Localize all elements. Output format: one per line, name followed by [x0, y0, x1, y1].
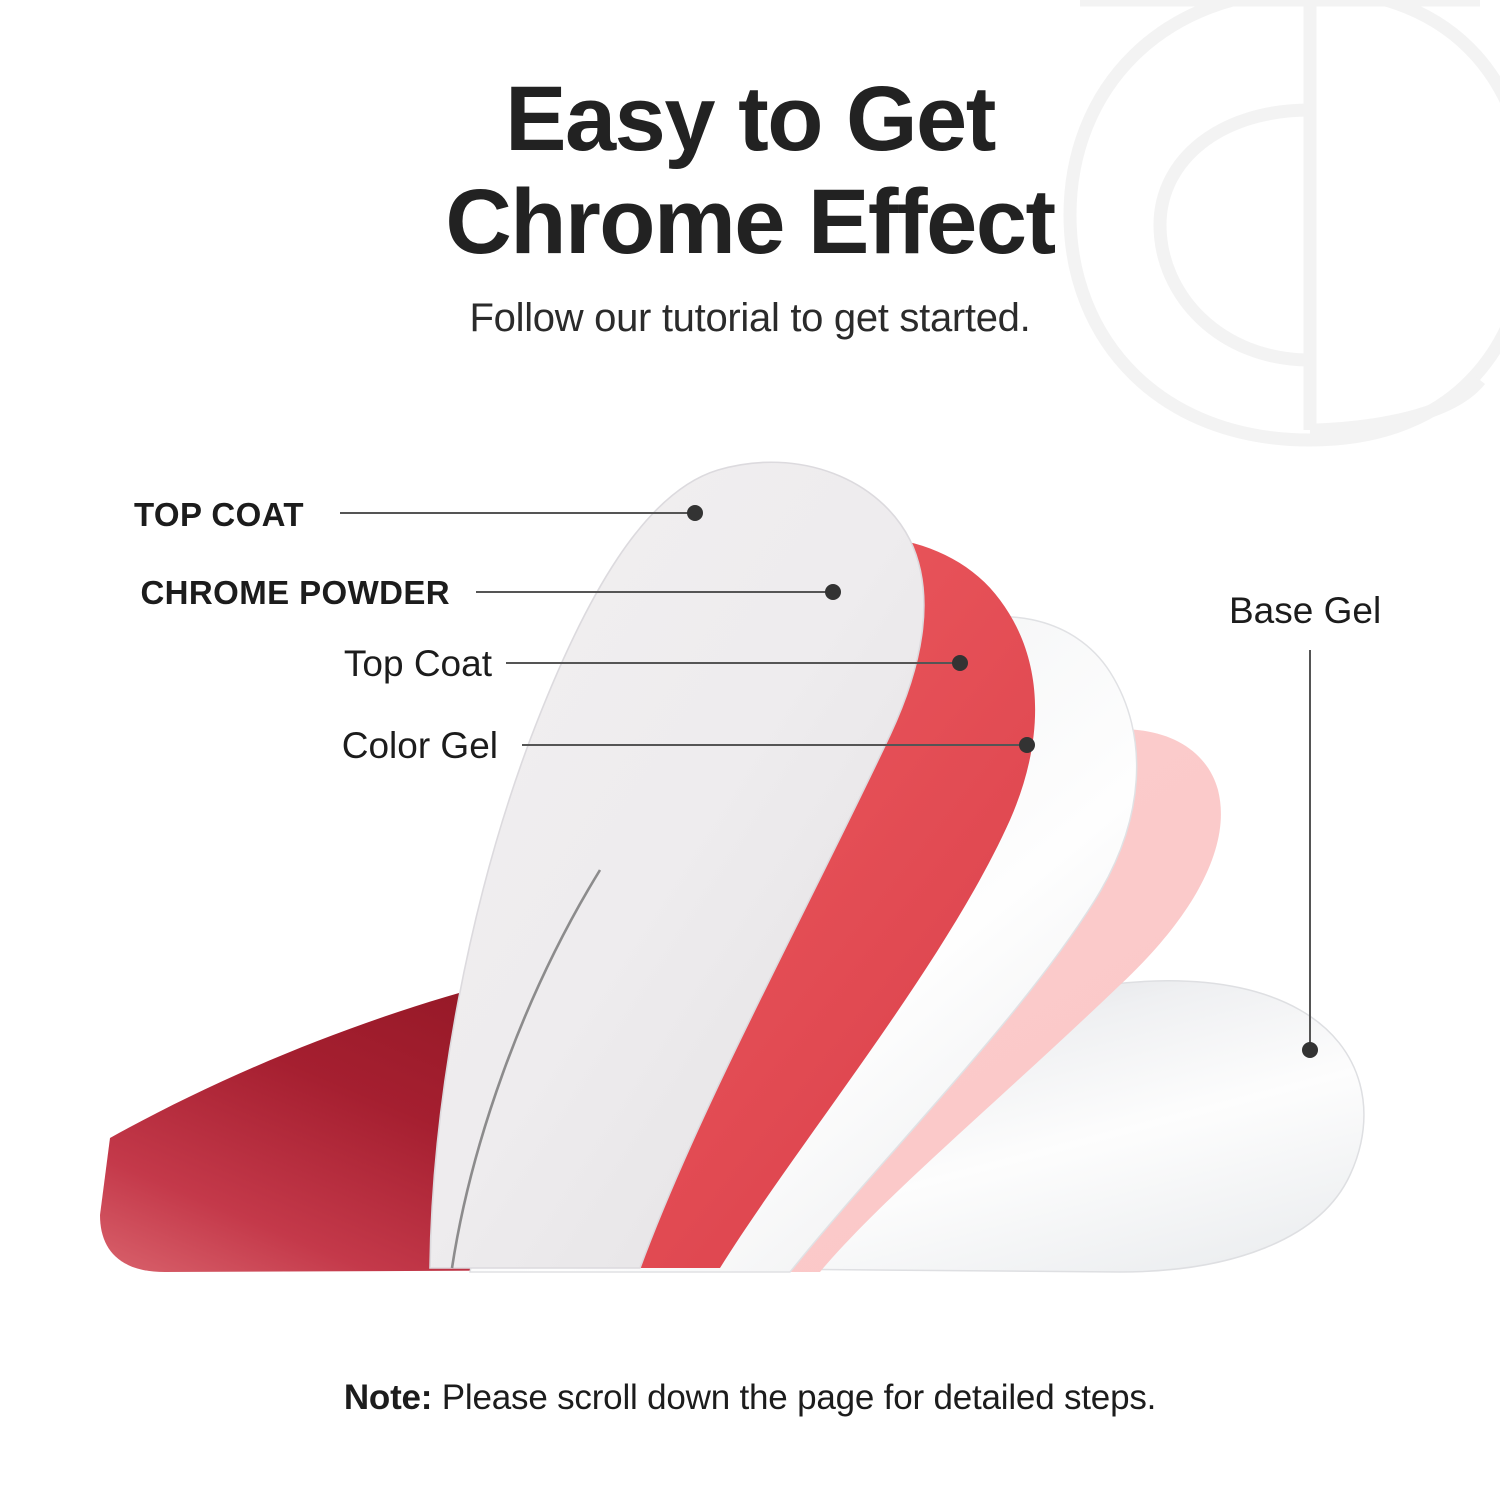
leader-dot-top-coat-outer: [687, 505, 703, 521]
page-root: Easy to Get Chrome Effect Follow our tut…: [0, 0, 1500, 1500]
footer-note-text: Please scroll down the page for detailed…: [432, 1378, 1156, 1417]
label-base-gel: Base Gel: [1229, 592, 1381, 629]
leader-dot-base-gel: [1302, 1042, 1318, 1058]
label-top-coat-inner: Top Coat: [344, 645, 492, 682]
leader-dot-color-gel: [1019, 737, 1035, 753]
leader-dot-top-coat-inner: [952, 655, 968, 671]
leader-dot-chrome-powder: [825, 584, 841, 600]
label-top-coat-outer: TOP COAT: [134, 498, 304, 531]
footer-note: Note: Please scroll down the page for de…: [0, 1378, 1500, 1418]
label-chrome-powder: CHROME POWDER: [140, 576, 450, 609]
nail-layer-diagram: [0, 0, 1500, 1500]
label-color-gel: Color Gel: [342, 727, 498, 764]
footer-note-prefix: Note:: [344, 1378, 432, 1417]
